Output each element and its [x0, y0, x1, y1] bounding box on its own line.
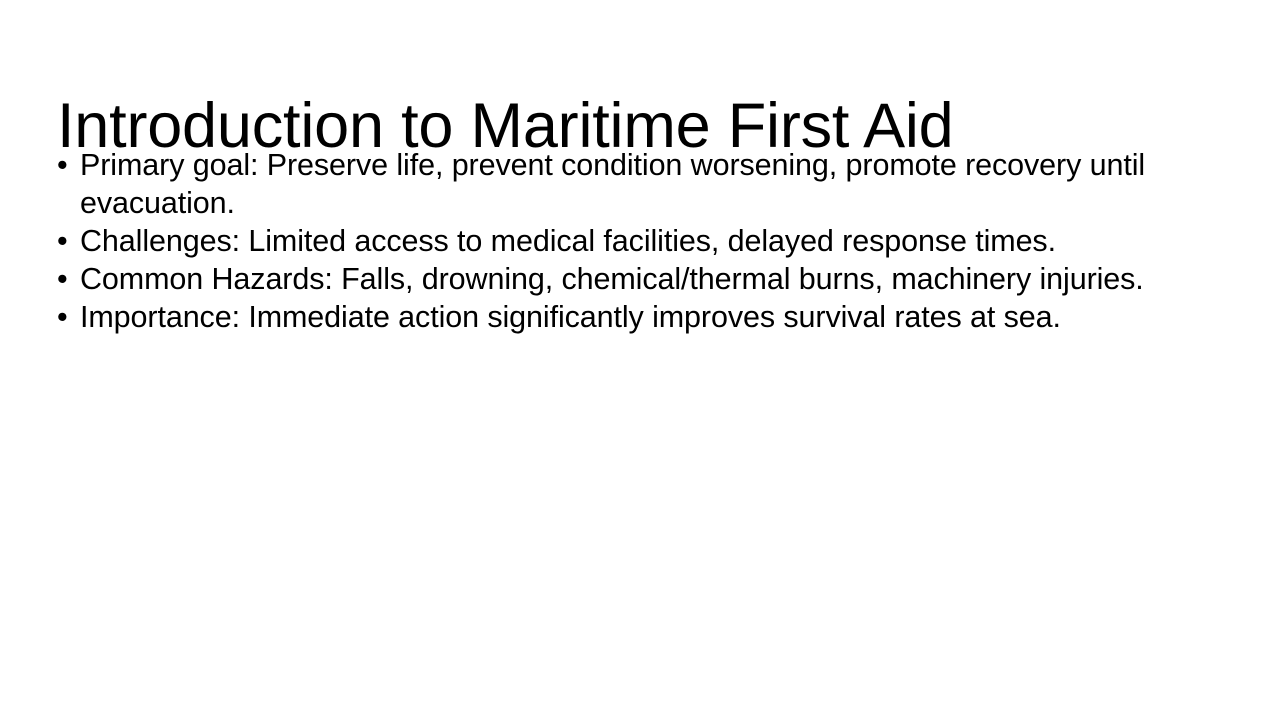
bullet-point-icon: • [57, 222, 80, 260]
list-item-text: Importance: Immediate action significant… [80, 298, 1223, 336]
bullet-list: • Primary goal: Preserve life, prevent c… [57, 146, 1223, 336]
list-item: • Challenges: Limited access to medical … [57, 222, 1223, 260]
bullet-point-icon: • [57, 260, 80, 298]
list-item-text: Primary goal: Preserve life, prevent con… [80, 146, 1223, 222]
list-item-text: Challenges: Limited access to medical fa… [80, 222, 1223, 260]
list-item: • Common Hazards: Falls, drowning, chemi… [57, 260, 1223, 298]
slide-body: • Primary goal: Preserve life, prevent c… [57, 146, 1223, 336]
bullet-point-icon: • [57, 298, 80, 336]
bullet-point-icon: • [57, 146, 80, 184]
list-item: • Primary goal: Preserve life, prevent c… [57, 146, 1223, 222]
presentation-slide: Introduction to Maritime First Aid • Pri… [0, 0, 1280, 720]
list-item-text: Common Hazards: Falls, drowning, chemica… [80, 260, 1223, 298]
list-item: • Importance: Immediate action significa… [57, 298, 1223, 336]
